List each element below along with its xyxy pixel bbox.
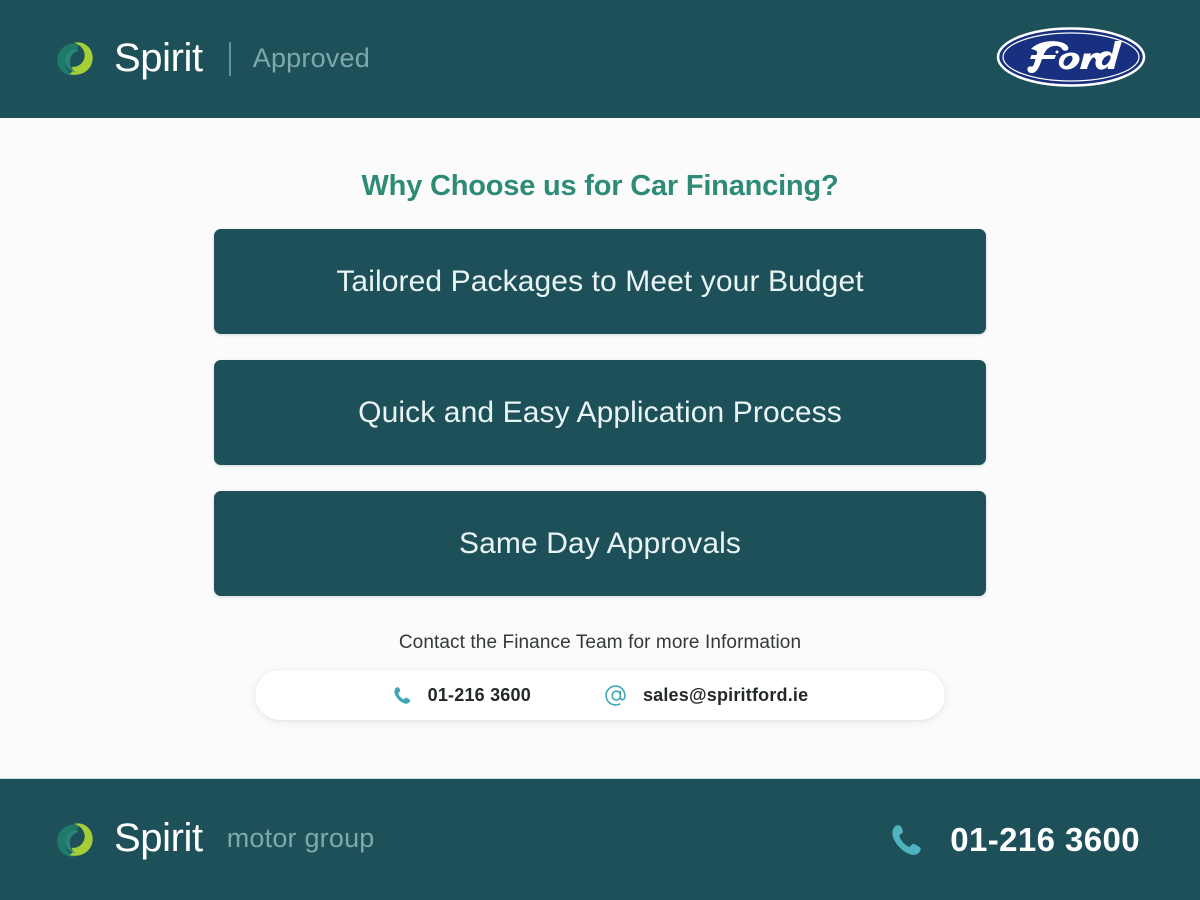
spirit-spiral-icon (52, 817, 98, 863)
footer-phone-contact[interactable]: 01-216 3600 (888, 821, 1140, 859)
brand-subtitle: Approved (253, 45, 370, 74)
benefit-card-label: Same Day Approvals (435, 527, 765, 561)
main-content: Why Choose us for Car Financing? Tailore… (0, 118, 1200, 778)
footer-brand-subtitle: motor group (219, 825, 375, 855)
phone-contact[interactable]: 01-216 3600 (392, 685, 531, 706)
page-header: Spirit Approved (0, 0, 1200, 118)
at-sign-icon (603, 683, 628, 708)
phone-icon (888, 821, 926, 859)
brand-name: Spirit (114, 38, 203, 81)
finance-promo-slide: Spirit Approved Why Choose us for Car Fi… (0, 0, 1200, 900)
benefit-card-label: Tailored Packages to Meet your Budget (312, 265, 887, 299)
footer-brand-name: Spirit (114, 818, 203, 862)
benefit-card[interactable]: Same Day Approvals (214, 491, 986, 596)
benefit-card[interactable]: Quick and Easy Application Process (214, 360, 986, 465)
contact-note: Contact the Finance Team for more Inform… (399, 632, 801, 654)
contact-pill: 01-216 3600 sales@spiritford.ie (255, 670, 945, 720)
phone-number: 01-216 3600 (428, 685, 531, 706)
ford-oval-icon[interactable] (996, 26, 1146, 93)
footer-brand-lockup[interactable]: Spirit motor group (52, 817, 375, 863)
email-contact[interactable]: sales@spiritford.ie (603, 683, 808, 708)
page-title: Why Choose us for Car Financing? (362, 170, 839, 203)
benefit-card[interactable]: Tailored Packages to Meet your Budget (214, 229, 986, 334)
spirit-spiral-icon (52, 36, 98, 82)
phone-icon (392, 685, 413, 706)
footer-phone-number: 01-216 3600 (950, 821, 1140, 859)
benefit-card-list: Tailored Packages to Meet your Budget Qu… (214, 229, 986, 596)
page-footer: Spirit motor group 01-216 3600 (0, 778, 1200, 900)
benefit-card-label: Quick and Easy Application Process (334, 396, 866, 430)
email-address: sales@spiritford.ie (643, 685, 808, 706)
brand-divider (229, 42, 231, 76)
header-brand-lockup[interactable]: Spirit Approved (52, 36, 370, 82)
